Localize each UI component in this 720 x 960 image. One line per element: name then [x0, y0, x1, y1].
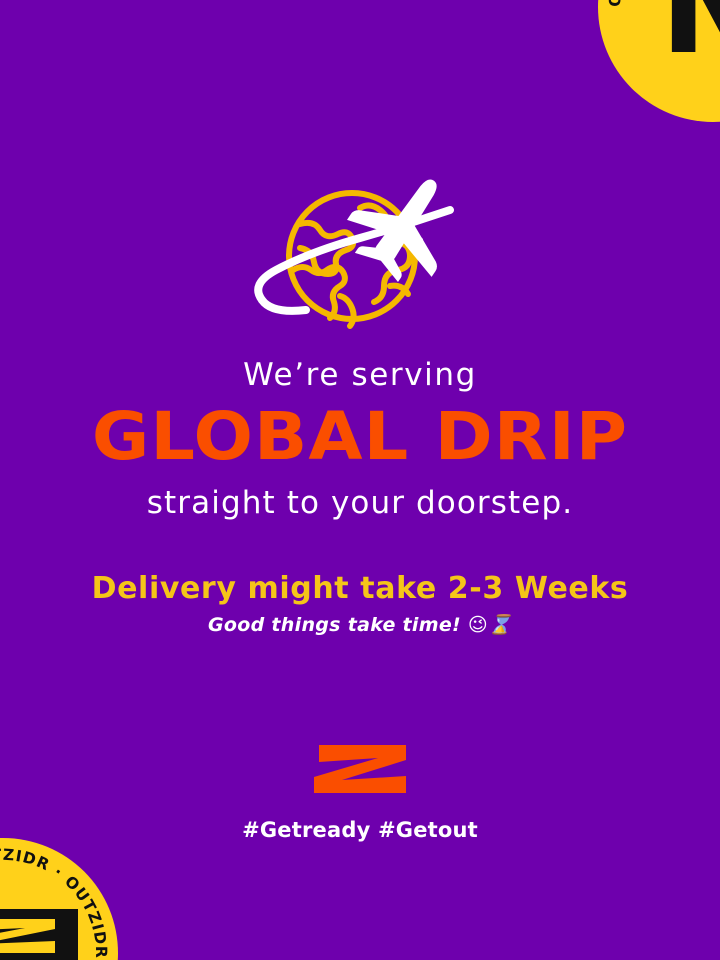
outzidr-seal-top-right: OUTZIDR · OUTZIDR · OUTZIDR · OUTZIDR · …	[598, 0, 720, 122]
plaque-z-mark-icon	[0, 919, 55, 960]
delivery-reassurance: Good things take time! 😉⌛	[0, 615, 720, 636]
delivery-estimate: Delivery might take 2-3 Weeks	[0, 572, 720, 605]
footer-brand-block: #Getready #Getout	[0, 745, 720, 842]
orbit-swoosh-tail-icon	[262, 300, 306, 311]
globe-with-airplane-icon	[240, 178, 480, 338]
seal-center-letter: N	[660, 0, 720, 73]
kicker-line: We’re serving	[0, 358, 720, 392]
subline: straight to your doorstep.	[0, 486, 720, 520]
outzidr-z-logo-icon	[314, 745, 406, 803]
poster-copy-block: We’re serving GLOBAL DRIP straight to yo…	[0, 358, 720, 636]
promo-poster: OUTZIDR · OUTZIDR · OUTZIDR · OUTZIDR · …	[0, 0, 720, 960]
outzidr-seal-bottom-left: OUTZIDR · OUTZIDR · OUTZIDR · OUTZIDR · …	[0, 838, 118, 960]
headline: GLOBAL DRIP	[0, 404, 720, 470]
hashtags: #Getready #Getout	[0, 819, 720, 842]
seal-center-plaque: OUTZIDR	[0, 909, 78, 960]
